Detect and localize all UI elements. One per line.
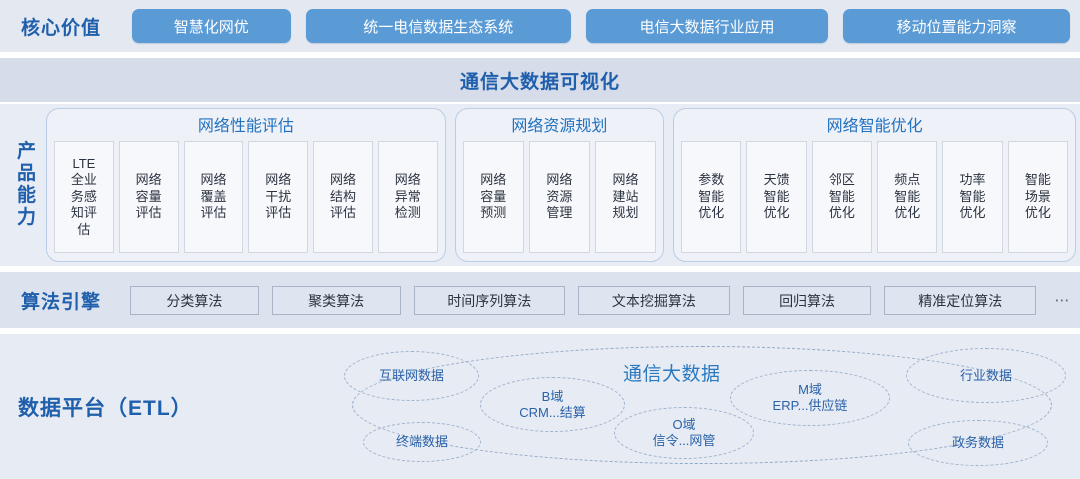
card-line: 异常 (395, 189, 421, 205)
venn-label-line: B域 (519, 389, 585, 405)
card-line: 评估 (330, 205, 356, 221)
venn-ellipse-government-data[interactable]: 政务数据 (908, 420, 1048, 466)
card-line: 智能 (764, 189, 790, 205)
capability-card[interactable]: 网络 结构 评估 (313, 141, 373, 253)
capability-card-list: 参数 智能 优化 天馈 智能 优化 邻区 (681, 141, 1068, 253)
card-line: 网络 (613, 172, 639, 188)
capability-card[interactable]: LTE 全业 务感 知评 估 (54, 141, 114, 253)
visualization-banner: 通信大数据可视化 (0, 58, 1080, 102)
product-capability-label-char-3: 能 (17, 185, 37, 207)
visualization-title: 通信大数据可视化 (460, 67, 620, 94)
capability-card[interactable]: 网络 异常 检测 (378, 141, 438, 253)
product-capability-label: 产 品 能 力 (4, 104, 50, 266)
product-capability-label-char-4: 力 (17, 207, 37, 229)
card-line: 优化 (698, 205, 724, 221)
card-line: 估 (71, 222, 97, 238)
venn-ellipse-terminal-data[interactable]: 终端数据 (363, 422, 481, 462)
product-capability-label-char-1: 产 (17, 141, 37, 163)
data-source-venn-diagram: 通信大数据 互联网数据 终端数据 B域 CRM...结算 O域 (330, 334, 1080, 479)
core-value-pill-2[interactable]: 统一电信数据生态系统 (306, 9, 571, 43)
card-line: 智能 (1025, 172, 1051, 188)
capability-group-list: 网络性能评估 LTE 全业 务感 知评 估 网络 (46, 108, 1076, 262)
capability-card-list: 网络 容量 预测 网络 资源 管理 网络 (463, 141, 656, 253)
capability-card[interactable]: 网络 覆盖 评估 (184, 141, 244, 253)
card-line: 频点 (894, 172, 920, 188)
card-line: 优化 (829, 205, 855, 221)
product-capability-section: 产 品 能 力 网络性能评估 LTE 全业 务感 知评 估 (0, 104, 1080, 266)
venn-label-line: CRM...结算 (519, 405, 585, 421)
capability-card[interactable]: 智能 场景 优化 (1008, 141, 1068, 253)
card-line: 评估 (136, 205, 162, 221)
algorithm-pill-regression[interactable]: 回归算法 (743, 286, 872, 315)
algorithm-pill-list: 分类算法 聚类算法 时间序列算法 文本挖掘算法 回归算法 精准定位算法 ⋯ (130, 286, 1075, 315)
capability-card[interactable]: 功率 智能 优化 (942, 141, 1002, 253)
venn-label-line: 互联网数据 (379, 368, 444, 384)
algorithm-more-ellipsis[interactable]: ⋯ (1049, 296, 1075, 306)
card-line: 知评 (71, 205, 97, 221)
venn-ellipse-o-domain[interactable]: O域 信令...网管 (614, 407, 754, 459)
capability-card[interactable]: 参数 智能 优化 (681, 141, 741, 253)
card-line: 预测 (480, 205, 506, 221)
card-line: 网络 (480, 172, 506, 188)
core-value-section: 核心价值 智慧化网优 统一电信数据生态系统 电信大数据行业应用 移动位置能力洞察 (0, 0, 1080, 52)
card-line: 评估 (200, 205, 226, 221)
card-line: 天馈 (764, 172, 790, 188)
capability-group-title: 网络智能优化 (681, 113, 1068, 141)
venn-label-line: O域 (653, 417, 716, 433)
card-line: 规划 (613, 205, 639, 221)
venn-label-line: M域 (773, 382, 848, 398)
card-line: 覆盖 (200, 189, 226, 205)
core-value-pill-3[interactable]: 电信大数据行业应用 (586, 9, 828, 43)
card-line: 参数 (698, 172, 724, 188)
card-line: 干扰 (265, 189, 291, 205)
algorithm-pill-time-series[interactable]: 时间序列算法 (414, 286, 566, 315)
algorithm-pill-clustering[interactable]: 聚类算法 (272, 286, 401, 315)
card-line: 优化 (960, 205, 986, 221)
capability-group-title: 网络性能评估 (54, 113, 438, 141)
core-value-pill-list: 智慧化网优 统一电信数据生态系统 电信大数据行业应用 移动位置能力洞察 (132, 9, 1070, 43)
card-line: 网络 (265, 172, 291, 188)
venn-ellipse-m-domain[interactable]: M域 ERP...供应链 (730, 370, 890, 426)
card-line: 评估 (265, 205, 291, 221)
venn-ellipse-industry-data[interactable]: 行业数据 (906, 348, 1066, 403)
capability-card[interactable]: 网络 资源 管理 (529, 141, 590, 253)
algorithm-engine-section: 算法引擎 分类算法 聚类算法 时间序列算法 文本挖掘算法 回归算法 精准定位算法… (0, 272, 1080, 328)
venn-ellipse-b-domain[interactable]: B域 CRM...结算 (480, 377, 625, 432)
card-line: 智能 (894, 189, 920, 205)
card-line: 容量 (136, 189, 162, 205)
core-value-pill-1[interactable]: 智慧化网优 (132, 9, 291, 43)
data-platform-section: 数据平台（ETL） 通信大数据 互联网数据 终端数据 B域 CRM...结算 (0, 334, 1080, 479)
capability-card[interactable]: 网络 建站 规划 (595, 141, 656, 253)
card-line: 智能 (698, 189, 724, 205)
card-line: 结构 (330, 189, 356, 205)
card-line: 网络 (546, 172, 572, 188)
venn-ellipse-internet-data[interactable]: 互联网数据 (344, 351, 479, 401)
card-line: 优化 (1025, 205, 1051, 221)
capability-card[interactable]: 网络 干扰 评估 (248, 141, 308, 253)
data-platform-label: 数据平台（ETL） (8, 334, 308, 479)
card-line: LTE (71, 156, 97, 172)
card-line: 邻区 (829, 172, 855, 188)
capability-group-network-performance: 网络性能评估 LTE 全业 务感 知评 估 网络 (46, 108, 446, 262)
product-capability-label-char-2: 品 (17, 163, 37, 185)
card-line: 管理 (546, 205, 572, 221)
card-line: 智能 (829, 189, 855, 205)
card-line: 建站 (613, 189, 639, 205)
core-value-pill-4[interactable]: 移动位置能力洞察 (843, 9, 1070, 43)
venn-label-line: 信令...网管 (653, 433, 716, 449)
card-line: 资源 (546, 189, 572, 205)
capability-card[interactable]: 天馈 智能 优化 (746, 141, 806, 253)
card-line: 功率 (960, 172, 986, 188)
architecture-diagram: 核心价值 智慧化网优 统一电信数据生态系统 电信大数据行业应用 移动位置能力洞察… (0, 0, 1080, 479)
algorithm-engine-label: 算法引擎 (0, 272, 122, 328)
card-line: 全业 (71, 172, 97, 188)
capability-card[interactable]: 网络 容量 预测 (463, 141, 524, 253)
capability-group-network-optimization: 网络智能优化 参数 智能 优化 天馈 智能 优化 (673, 108, 1076, 262)
card-line: 网络 (136, 172, 162, 188)
card-line: 容量 (480, 189, 506, 205)
card-line: 网络 (330, 172, 356, 188)
venn-label-line: ERP...供应链 (773, 398, 848, 414)
capability-card[interactable]: 邻区 智能 优化 (812, 141, 872, 253)
card-line: 网络 (200, 172, 226, 188)
algorithm-pill-precise-positioning[interactable]: 精准定位算法 (884, 286, 1036, 315)
card-line: 务感 (71, 189, 97, 205)
capability-card[interactable]: 网络 容量 评估 (119, 141, 179, 253)
card-line: 优化 (764, 205, 790, 221)
algorithm-pill-classification[interactable]: 分类算法 (130, 286, 259, 315)
venn-label-line: 行业数据 (960, 368, 1012, 384)
card-line: 网络 (395, 172, 421, 188)
capability-card-list: LTE 全业 务感 知评 估 网络 容量 评估 (54, 141, 438, 253)
capability-card[interactable]: 频点 智能 优化 (877, 141, 937, 253)
capability-group-title: 网络资源规划 (463, 113, 656, 141)
capability-group-network-resource: 网络资源规划 网络 容量 预测 网络 资源 管理 (455, 108, 664, 262)
card-line: 场景 (1025, 189, 1051, 205)
core-value-label: 核心价值 (0, 0, 122, 52)
venn-label-line: 终端数据 (396, 434, 448, 450)
venn-title: 通信大数据 (623, 359, 721, 386)
venn-label-line: 政务数据 (952, 435, 1004, 451)
card-line: 智能 (960, 189, 986, 205)
card-line: 优化 (894, 205, 920, 221)
algorithm-pill-text-mining[interactable]: 文本挖掘算法 (578, 286, 730, 315)
card-line: 检测 (395, 205, 421, 221)
